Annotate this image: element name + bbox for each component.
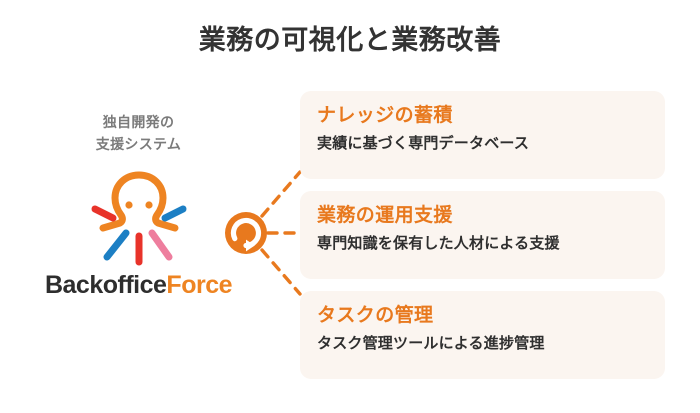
brand-caption-line-2: 支援システム [36,134,241,156]
wordmark-backoffice: Backoffice [45,271,166,299]
info-card-body: タスク管理ツールによる進捗管理 [317,334,665,354]
wordmark-force: Force [166,271,232,299]
refresh-cycle-icon [216,203,276,263]
info-card[interactable]: 業務の運用支援 専門知識を保有した人材による支援 [300,191,665,279]
octopus-mascot-icon [36,165,241,269]
info-card[interactable]: ナレッジの蓄積 実績に基づく専門データベース [300,91,665,179]
page-title: 業務の可視化と業務改善 [0,24,700,56]
brand-column: 独自開発の 支援システム BackofficeForce [36,112,241,298]
brand-wordmark: BackofficeForce [36,273,241,298]
info-card-heading: ナレッジの蓄積 [317,104,665,128]
brand-caption-line-1: 独自開発の [36,112,241,134]
info-card-heading: 業務の運用支援 [317,204,665,228]
info-card-body: 実績に基づく専門データベース [317,134,665,154]
info-card[interactable]: タスクの管理 タスク管理ツールによる進捗管理 [300,291,665,379]
slide-canvas: 業務の可視化と業務改善 独自開発の 支援システム [0,0,700,413]
info-card-heading: タスクの管理 [317,304,665,328]
info-card-body: 専門知識を保有した人材による支援 [317,234,665,254]
brand-caption: 独自開発の 支援システム [36,112,241,155]
